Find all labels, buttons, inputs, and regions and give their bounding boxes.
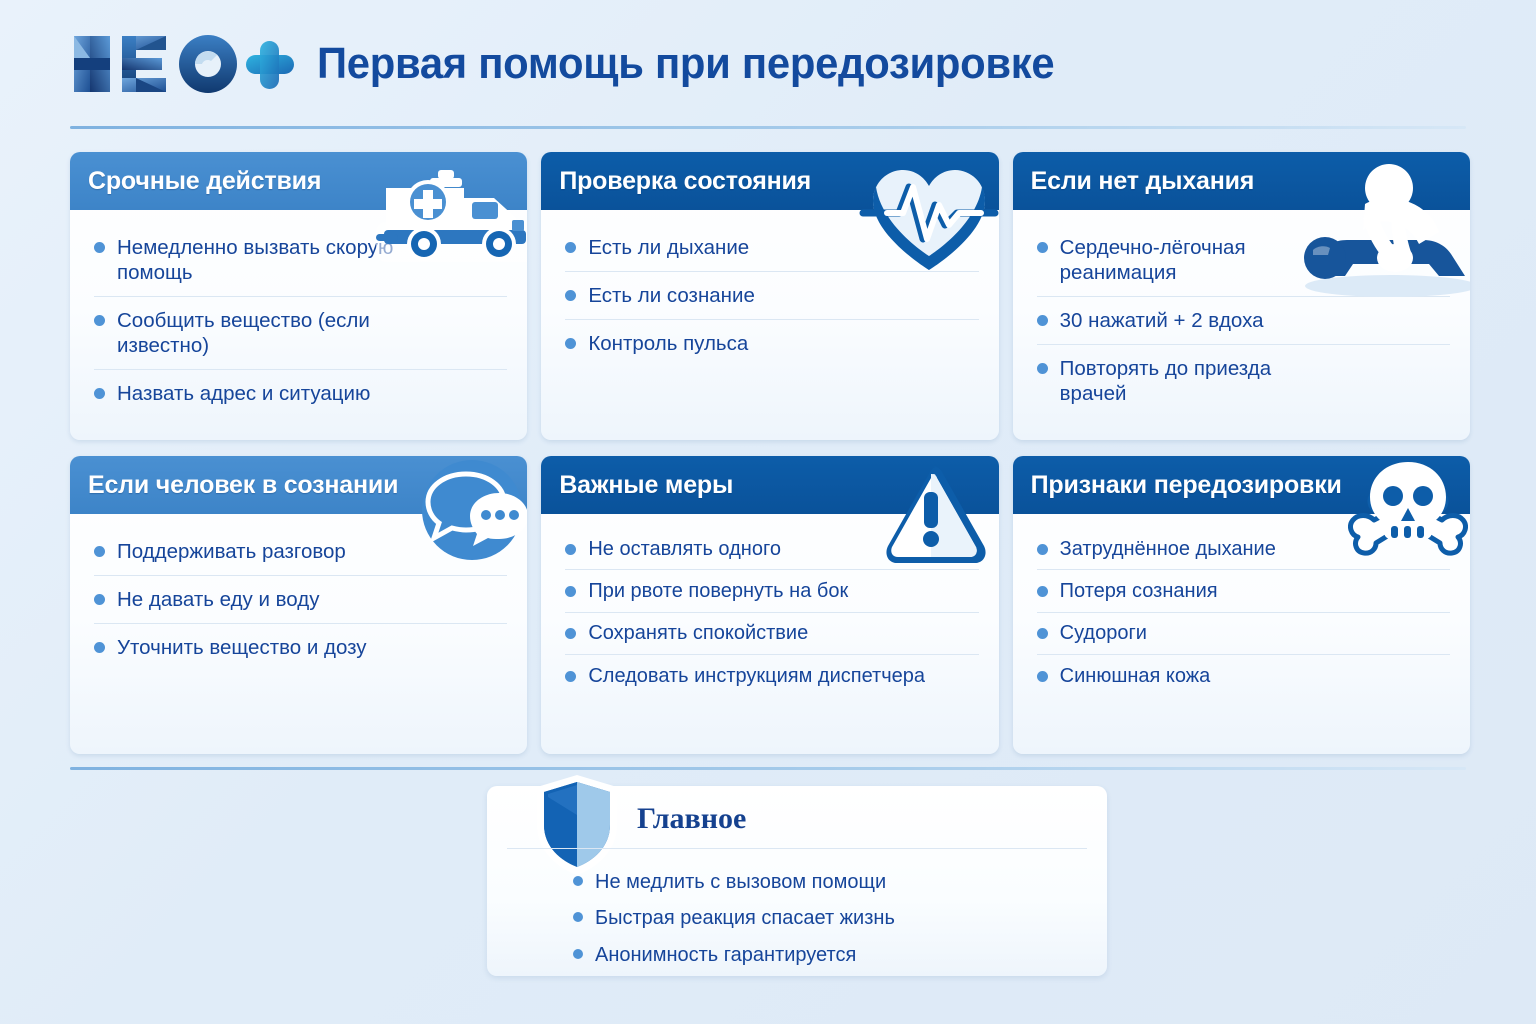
list-item[interactable]: Есть ли сознание xyxy=(565,271,978,319)
bullet-icon xyxy=(94,315,105,326)
list-item[interactable]: Поддерживать разговор xyxy=(94,528,507,575)
card-item-list: Немедленно вызвать скорую помощь Сообщит… xyxy=(70,210,527,417)
list-item-label: Немедленно вызвать скорую помощь xyxy=(117,235,447,285)
list-item[interactable]: Судороги xyxy=(1037,612,1450,654)
list-item[interactable]: Есть ли дыхание xyxy=(565,224,978,271)
bullet-icon xyxy=(1037,586,1048,597)
bullet-icon xyxy=(573,912,583,922)
card-important-measures[interactable]: Важные меры Не оставлять одного xyxy=(541,456,998,754)
list-item[interactable]: Не медлить с вызовом помощи xyxy=(573,864,895,900)
card-item-list: Не оставлять одного При рвоте повернуть … xyxy=(541,514,998,697)
bullet-icon xyxy=(565,290,576,301)
card-item-list: Сердечно-лёгочная реанимация 30 нажатий … xyxy=(1013,210,1470,417)
list-item[interactable]: Не оставлять одного xyxy=(565,528,978,569)
bullet-icon xyxy=(1037,242,1048,253)
card-grid: Срочные действия xyxy=(70,152,1470,754)
neo-plus-logo-icon xyxy=(70,28,295,100)
list-item[interactable]: Потеря сознания xyxy=(1037,569,1450,611)
card-header: Срочные действия xyxy=(70,152,527,210)
infographic-page: Первая помощь при передозировке Срочные … xyxy=(0,0,1536,1024)
bullet-icon xyxy=(573,876,583,886)
list-item-label: Не медлить с вызовом помощи xyxy=(595,870,886,894)
list-item-label: Уточнить вещество и дозу xyxy=(117,635,367,660)
list-item-label: Назвать адрес и ситуацию xyxy=(117,381,370,406)
card-title: Если нет дыхания xyxy=(1031,167,1255,196)
list-item[interactable]: Повторять до приезда врачей xyxy=(1037,344,1450,417)
list-item-label: Судороги xyxy=(1060,621,1147,645)
list-item[interactable]: Контроль пульса xyxy=(565,319,978,367)
list-item-label: Есть ли сознание xyxy=(588,283,755,308)
page-title: Первая помощь при передозировке xyxy=(317,42,1054,86)
list-item-label: Синюшная кожа xyxy=(1060,664,1211,688)
bullet-icon xyxy=(1037,363,1048,374)
bullet-icon xyxy=(565,628,576,639)
bullet-icon xyxy=(565,671,576,682)
bullet-icon xyxy=(94,594,105,605)
list-item-label: Сердечно-лёгочная реанимация xyxy=(1060,235,1315,285)
list-item-label: Поддерживать разговор xyxy=(117,539,346,564)
summary-panel[interactable]: Главное Не медлить с вызовом помощи Быст… xyxy=(487,786,1107,976)
list-item[interactable]: При рвоте повернуть на бок xyxy=(565,569,978,611)
bullet-icon xyxy=(573,949,583,959)
bullet-icon xyxy=(1037,671,1048,682)
card-item-list: Есть ли дыхание Есть ли сознание Контрол… xyxy=(541,210,998,367)
list-item[interactable]: 30 нажатий + 2 вдоха xyxy=(1037,296,1450,344)
card-title: Срочные действия xyxy=(88,167,321,196)
bullet-icon xyxy=(1037,628,1048,639)
list-item[interactable]: Анонимность гарантируется xyxy=(573,937,895,973)
list-item[interactable]: Немедленно вызвать скорую помощь xyxy=(94,224,507,296)
list-item-label: Быстрая реакция спасает жизнь xyxy=(595,906,895,930)
footer-divider xyxy=(70,767,1466,770)
card-item-list: Поддерживать разговор Не давать еду и во… xyxy=(70,514,527,671)
bullet-icon xyxy=(565,544,576,555)
list-item-label: Повторять до приезда врачей xyxy=(1060,356,1315,406)
header-divider xyxy=(70,126,1466,129)
shield-icon xyxy=(532,773,622,877)
summary-item-list: Не медлить с вызовом помощи Быстрая реак… xyxy=(573,864,895,973)
bullet-icon xyxy=(1037,544,1048,555)
card-row-1: Срочные действия xyxy=(70,152,1470,440)
card-header: Если нет дыхания xyxy=(1013,152,1470,210)
list-item-label: Анонимность гарантируется xyxy=(595,943,856,967)
card-item-list: Затруднённое дыхание Потеря сознания Суд… xyxy=(1013,514,1470,697)
list-item[interactable]: Сообщить вещество (если известно) xyxy=(94,296,507,369)
list-item-label: 30 нажатий + 2 вдоха xyxy=(1060,308,1264,333)
card-header: Признаки передозировки xyxy=(1013,456,1470,514)
bullet-icon xyxy=(565,586,576,597)
bullet-icon xyxy=(94,388,105,399)
page-header: Первая помощь при передозировке xyxy=(70,26,1466,102)
bullet-icon xyxy=(1037,315,1048,326)
card-no-breathing[interactable]: Если нет дыхания Сердечно-лёг xyxy=(1013,152,1470,440)
bullet-icon xyxy=(94,642,105,653)
card-title: Признаки передозировки xyxy=(1031,471,1342,500)
list-item[interactable]: Синюшная кожа xyxy=(1037,654,1450,696)
list-item-label: При рвоте повернуть на бок xyxy=(588,579,848,603)
bullet-icon xyxy=(94,546,105,557)
summary-divider xyxy=(507,848,1087,849)
card-row-2: Если человек в сознании Поддерживать раз… xyxy=(70,456,1470,754)
summary-title: Главное xyxy=(637,802,746,836)
bullet-icon xyxy=(565,338,576,349)
list-item-label: Есть ли дыхание xyxy=(588,235,749,260)
card-title: Проверка состояния xyxy=(559,167,811,196)
list-item-label: Не давать еду и воду xyxy=(117,587,319,612)
card-title: Важные меры xyxy=(559,471,733,500)
card-overdose-signs[interactable]: Признаки передозировки xyxy=(1013,456,1470,754)
card-condition-check[interactable]: Проверка состояния Есть ли дыхание Ес xyxy=(541,152,998,440)
list-item[interactable]: Назвать адрес и ситуацию xyxy=(94,369,507,417)
card-title: Если человек в сознании xyxy=(88,471,398,500)
list-item[interactable]: Сохранять спокойствие xyxy=(565,612,978,654)
card-header: Проверка состояния xyxy=(541,152,998,210)
list-item-label: Контроль пульса xyxy=(588,331,748,356)
card-urgent-actions[interactable]: Срочные действия xyxy=(70,152,527,440)
card-header: Важные меры xyxy=(541,456,998,514)
card-person-conscious[interactable]: Если человек в сознании Поддерживать раз… xyxy=(70,456,527,754)
card-header: Если человек в сознании xyxy=(70,456,527,514)
bullet-icon xyxy=(94,242,105,253)
list-item-label: Следовать инструкциям диспетчера xyxy=(588,664,925,688)
list-item[interactable]: Уточнить вещество и дозу xyxy=(94,623,507,671)
list-item[interactable]: Затруднённое дыхание xyxy=(1037,528,1450,569)
bullet-icon xyxy=(565,242,576,253)
list-item[interactable]: Не давать еду и воду xyxy=(94,575,507,623)
list-item-label: Затруднённое дыхание xyxy=(1060,537,1276,561)
list-item-label: Сохранять спокойствие xyxy=(588,621,808,645)
list-item-label: Не оставлять одного xyxy=(588,537,781,561)
list-item[interactable]: Сердечно-лёгочная реанимация xyxy=(1037,224,1450,296)
list-item-label: Потеря сознания xyxy=(1060,579,1218,603)
list-item[interactable]: Быстрая реакция спасает жизнь xyxy=(573,900,895,936)
list-item-label: Сообщить вещество (если известно) xyxy=(117,308,447,358)
list-item[interactable]: Следовать инструкциям диспетчера xyxy=(565,654,978,696)
